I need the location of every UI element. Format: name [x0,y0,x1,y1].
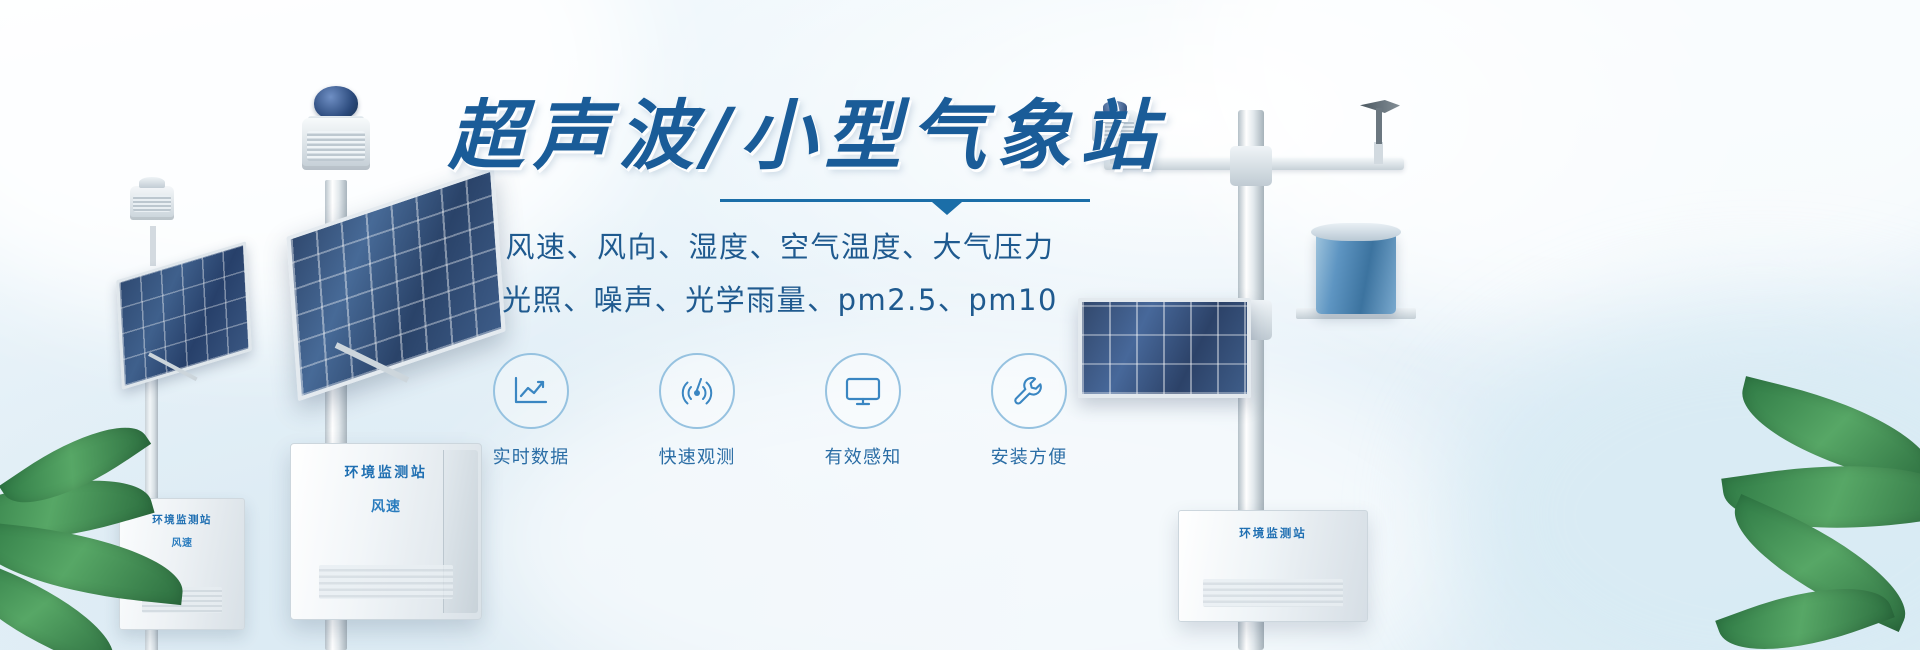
feature-label: 有效感知 [799,443,927,469]
mast-collar-upper [1230,146,1272,186]
product-banner: 环境监测站 风速 环境监测站 风速 环境监测站 [0,0,1920,650]
brand-logo: 风速 [120,534,244,549]
temperature-humidity-shield-icon [302,118,370,170]
haze-wash-right [1450,300,1920,650]
rain-gauge-icon [1316,232,1396,314]
temperature-humidity-shield-icon [130,186,174,220]
leaf-decoration-right [1610,390,1920,650]
sensor-arm [150,226,156,266]
banner-title: 超声波/小型气象站 [430,96,1130,177]
wind-vane-icon [1360,98,1400,144]
feature-label: 安装方便 [965,443,1093,469]
feature-item-fast-observation[interactable]: 快速观测 [633,353,761,469]
control-cabinet: 环境监测站 风速 [290,443,482,620]
cabinet-vent [142,587,222,613]
feature-item-easy-installation[interactable]: 安装方便 [965,353,1093,469]
divider-triangle-marker [932,202,962,215]
banner-subtitle-line-2: 光照、噪声、光学雨量、pm2.5、pm10 [430,277,1130,324]
control-cabinet: 环境监测站 风速 [119,498,245,630]
feature-label: 实时数据 [467,443,595,469]
brand-logo: 风速 [291,496,481,516]
feature-item-realtime-data[interactable]: 实时数据 [467,353,595,469]
banner-subtitle-line-1: 风速、风向、湿度、空气温度、大气压力 [430,224,1130,271]
line-chart-icon [493,353,569,429]
title-divider [720,199,1090,202]
monitor-icon [825,353,901,429]
wrench-icon [991,353,1067,429]
feature-list: 实时数据 快速观测 [430,353,1130,469]
radiation-dome-icon [314,86,358,120]
banner-content: 超声波/小型气象站 风速、风向、湿度、空气温度、大气压力 光照、噪声、光学雨量、… [430,96,1130,469]
wind-vane-stem [1374,142,1383,164]
cabinet-label: 环境监测站 [120,512,244,527]
cabinet-label: 环境监测站 [1179,525,1367,541]
feature-item-effective-sensing[interactable]: 有效感知 [799,353,927,469]
control-cabinet: 环境监测站 [1178,510,1368,622]
cabinet-vent [319,565,453,599]
solar-panel [116,241,252,390]
radar-signal-icon [659,353,735,429]
cabinet-vent [1203,579,1343,607]
feature-label: 快速观测 [633,443,761,469]
